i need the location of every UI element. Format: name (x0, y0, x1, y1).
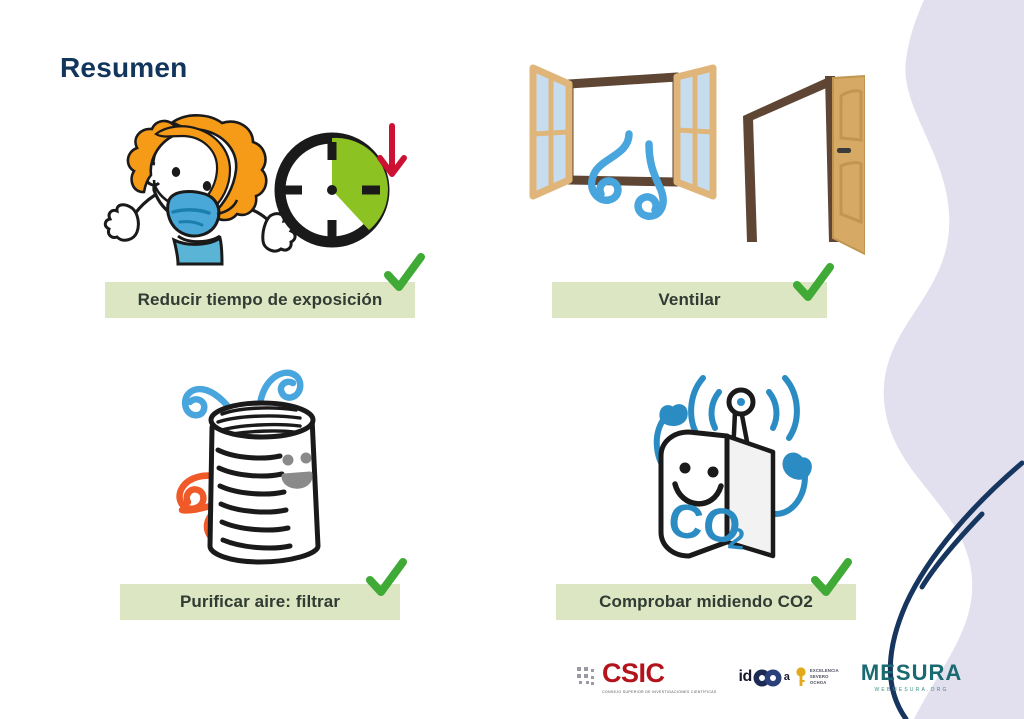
clock-icon (280, 138, 388, 242)
severo-ochoa-key-icon (795, 665, 807, 689)
open-window-and-door-illustration (525, 62, 865, 287)
idaea-logo: id a EXCELENCIA SEVERO OCHOA (739, 665, 839, 689)
check-mark-icon-3 (363, 556, 409, 602)
csic-logo: CSIC CONSEJO SUPERIOR DE INVESTIGACIONES… (575, 660, 717, 694)
footer-logos: CSIC CONSEJO SUPERIOR DE INVESTIGACIONES… (575, 652, 925, 702)
idaea-prefix: id (739, 668, 752, 686)
child-with-mask-icon (105, 115, 295, 264)
waving-arm-right-icon (775, 455, 809, 514)
csic-snowflake-icon (575, 665, 597, 689)
air-purifier-body-icon (210, 403, 318, 562)
open-window-icon (533, 68, 713, 196)
csic-subtitle: CONSEJO SUPERIOR DE INVESTIGACIONES CIEN… (602, 690, 717, 694)
check-mark-icon-4 (808, 556, 854, 602)
svg-text:2: 2 (726, 522, 746, 557)
idaea-suffix: a (784, 671, 790, 683)
idaea-ae-mark-icon (753, 666, 783, 688)
page-title: Resumen (60, 52, 187, 84)
air-purifier-illustration (160, 360, 390, 575)
csic-wordmark: CSIC (602, 660, 717, 687)
mesura-subtitle: WEBMESURA.ORG (874, 687, 948, 693)
child-with-mask-and-clock-illustration (70, 112, 420, 287)
slide-canvas: Resumen (0, 0, 1024, 719)
red-down-arrow-icon (380, 126, 404, 174)
panel-label-ventilar: Ventilar (552, 282, 827, 318)
mesura-wordmark: MESURA (861, 662, 962, 684)
co2-meter-illustration: CO 2 (615, 356, 850, 576)
panel-label-reducir-tiempo: Reducir tiempo de exposición (105, 282, 415, 318)
panel-label-purificar-aire: Purificar aire: filtrar (120, 584, 400, 620)
check-mark-icon-2 (790, 261, 836, 307)
mesura-logo: MESURA WEBMESURA.ORG (861, 662, 962, 693)
check-mark-icon-1 (381, 251, 427, 297)
severo-ochoa-line3: OCHOA (810, 680, 839, 686)
open-door-icon (743, 76, 865, 254)
